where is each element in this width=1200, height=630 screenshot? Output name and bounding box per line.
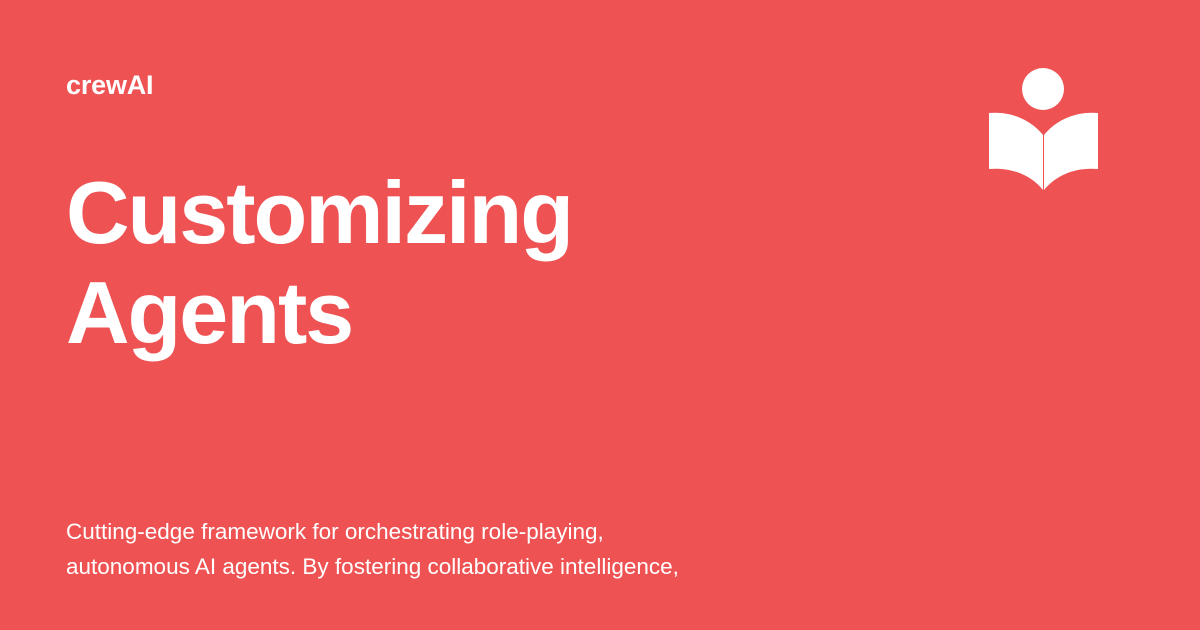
reader-head-icon — [1022, 68, 1064, 110]
open-book-reader-icon — [985, 62, 1105, 197]
book-right-page-icon — [1044, 113, 1098, 190]
page-description-line-1: Cutting-edge framework for orchestrating… — [66, 514, 946, 549]
page-title: Customizing Agents — [66, 163, 886, 363]
social-preview-card: crewAI Customizing Agents Cutting-edge f… — [0, 0, 1200, 630]
page-description-line-2: autonomous AI agents. By fostering colla… — [66, 549, 946, 584]
brand-logo-text: crewAI — [66, 72, 153, 99]
page-title-line-2: Agents — [66, 263, 886, 363]
book-left-page-icon — [989, 113, 1043, 190]
page-title-line-1: Customizing — [66, 163, 886, 263]
page-description: Cutting-edge framework for orchestrating… — [66, 514, 946, 584]
